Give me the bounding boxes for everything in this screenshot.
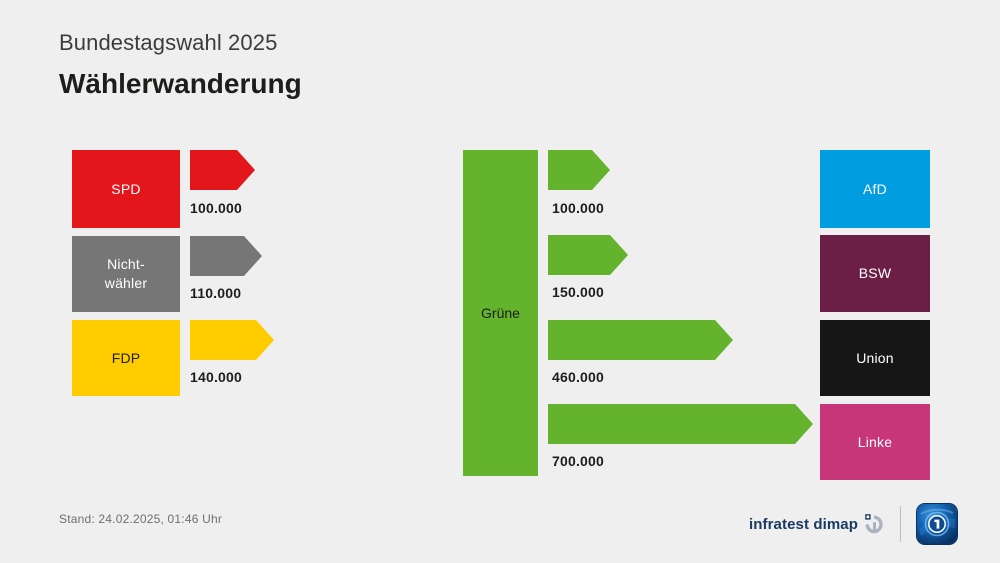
inflow-arrow-nichtwaehler bbox=[190, 236, 262, 276]
outflow-value-bsw: 150.000 bbox=[552, 284, 604, 300]
brand-name: infratest dimap bbox=[749, 516, 858, 533]
arrow-shape bbox=[548, 150, 610, 190]
arrow-shape bbox=[190, 150, 255, 190]
outflow-box-label: BSW bbox=[859, 264, 892, 283]
outflow-box-afd[interactable]: AfD bbox=[820, 150, 930, 228]
inflow-value-fdp: 140.000 bbox=[190, 369, 242, 385]
footer-branding: infratest dimap bbox=[749, 498, 957, 550]
inflow-box-label: Nicht-wähler bbox=[105, 255, 147, 293]
outflow-box-label: Union bbox=[856, 349, 894, 368]
infratest-dimap-circle-mark-icon bbox=[864, 513, 884, 535]
outflow-arrow-union bbox=[548, 320, 733, 360]
arrow-shape bbox=[548, 320, 733, 360]
arrow-shape bbox=[190, 320, 274, 360]
outflow-value-union: 460.000 bbox=[552, 369, 604, 385]
outflow-value-afd: 100.000 bbox=[552, 200, 604, 216]
outflow-arrow-linke bbox=[548, 404, 813, 444]
ard-eins-logo-icon bbox=[917, 504, 957, 544]
outflow-box-label: Linke bbox=[858, 433, 892, 452]
arrow-shape bbox=[548, 404, 813, 444]
voter-migration-diagram: SPD Nicht-wähler FDP 100.000 110.000 140… bbox=[0, 0, 1000, 563]
outflow-arrow-bsw bbox=[548, 235, 628, 275]
center-bar-gruene[interactable]: Grüne bbox=[463, 150, 538, 476]
outflow-value-linke: 700.000 bbox=[552, 453, 604, 469]
outflow-box-label: AfD bbox=[863, 180, 887, 199]
inflow-box-label: FDP bbox=[112, 349, 141, 368]
inflow-box-fdp[interactable]: FDP bbox=[72, 320, 180, 396]
inflow-box-nichtwaehler[interactable]: Nicht-wähler bbox=[72, 236, 180, 312]
inflow-value-spd: 100.000 bbox=[190, 200, 242, 216]
center-bar-label: Grüne bbox=[481, 305, 520, 321]
outflow-box-linke[interactable]: Linke bbox=[820, 404, 930, 480]
inflow-value-nichtwaehler: 110.000 bbox=[190, 285, 241, 301]
arrow-shape bbox=[190, 236, 262, 276]
vertical-divider-icon bbox=[900, 506, 901, 542]
outflow-arrow-afd bbox=[548, 150, 610, 190]
inflow-arrow-fdp bbox=[190, 320, 274, 360]
outflow-box-bsw[interactable]: BSW bbox=[820, 235, 930, 312]
inflow-box-spd[interactable]: SPD bbox=[72, 150, 180, 228]
arrow-shape bbox=[548, 235, 628, 275]
inflow-box-label: SPD bbox=[111, 180, 140, 199]
stand-timestamp: Stand: 24.02.2025, 01:46 Uhr bbox=[59, 512, 222, 526]
inflow-arrow-spd bbox=[190, 150, 255, 190]
outflow-box-union[interactable]: Union bbox=[820, 320, 930, 396]
